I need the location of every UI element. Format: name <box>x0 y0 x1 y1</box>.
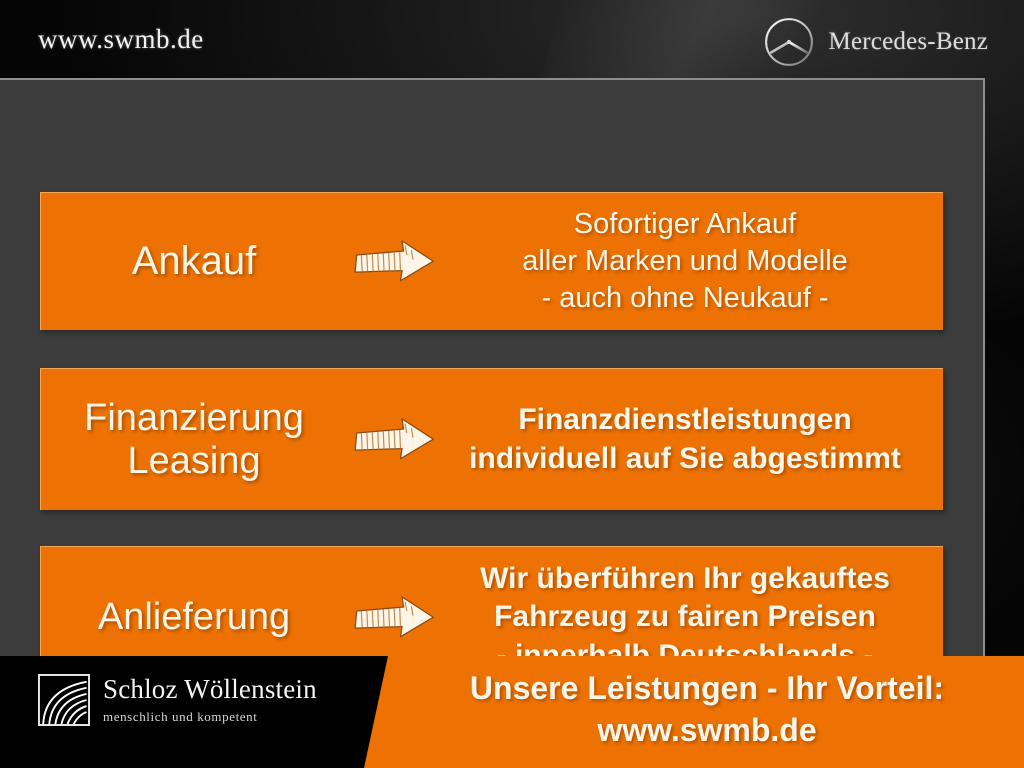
services-panel: Ankauf <box>0 78 985 656</box>
service-description-line: Sofortiger Ankauf <box>449 206 921 243</box>
footer-orange-corner-tab <box>864 656 1024 662</box>
service-title: Finanzierung Leasing <box>41 397 341 482</box>
slide-canvas: www.swmb.de <box>0 0 1024 768</box>
service-title-line: Finanzierung <box>47 397 341 440</box>
service-description-line: aller Marken und Modelle <box>449 243 921 280</box>
footer-url: www.swmb.de <box>390 710 1024 752</box>
sketched-right-arrow-icon <box>341 236 449 288</box>
service-description-line: Fahrzeug zu fairen Preisen <box>449 598 921 636</box>
service-title: Anlieferung <box>41 596 341 639</box>
service-title-line: Leasing <box>47 440 341 483</box>
header-site-url: www.swmb.de <box>38 24 204 55</box>
footer-bar: Schloz Wöllenstein menschlich und kompet… <box>0 656 1024 768</box>
service-description-line: - auch ohne Neukauf - <box>449 280 921 317</box>
company-name: Schloz Wöllenstein <box>103 674 317 704</box>
schloz-woellenstein-wordmark-group: Schloz Wöllenstein menschlich und kompet… <box>103 674 317 725</box>
company-tagline: menschlich und kompetent <box>103 709 317 725</box>
service-description-line: individuell auf Sie abgestimmt <box>449 440 921 478</box>
mercedes-benz-wordmark: Mercedes-Benz <box>829 28 988 56</box>
schloz-woellenstein-logo: Schloz Wöllenstein menschlich und kompet… <box>38 674 317 726</box>
service-title: Ankauf <box>41 239 341 284</box>
footer-message: Unsere Leistungen - Ihr Vorteil: www.swm… <box>390 668 1024 751</box>
mercedes-star-icon <box>763 16 815 68</box>
schloz-woellenstein-arc-logo-icon <box>38 674 90 726</box>
service-description-line: Wir überführen Ihr gekauftes <box>449 560 921 598</box>
sketched-right-arrow-icon <box>341 414 449 466</box>
sketched-right-arrow-icon <box>341 592 449 644</box>
service-description: Sofortiger Ankauf aller Marken und Model… <box>449 206 943 317</box>
service-description-line: Finanzdienstleistungen <box>449 401 921 439</box>
service-row-ankauf[interactable]: Ankauf <box>40 192 943 330</box>
header-bar: www.swmb.de <box>0 0 1024 78</box>
service-row-finanzierung-leasing[interactable]: Finanzierung Leasing <box>40 368 943 510</box>
footer-headline: Unsere Leistungen - Ihr Vorteil: <box>390 668 1024 710</box>
service-description: Finanzdienstleistungen individuell auf S… <box>449 401 943 478</box>
mercedes-benz-logo-lockup: Mercedes-Benz <box>763 16 988 68</box>
